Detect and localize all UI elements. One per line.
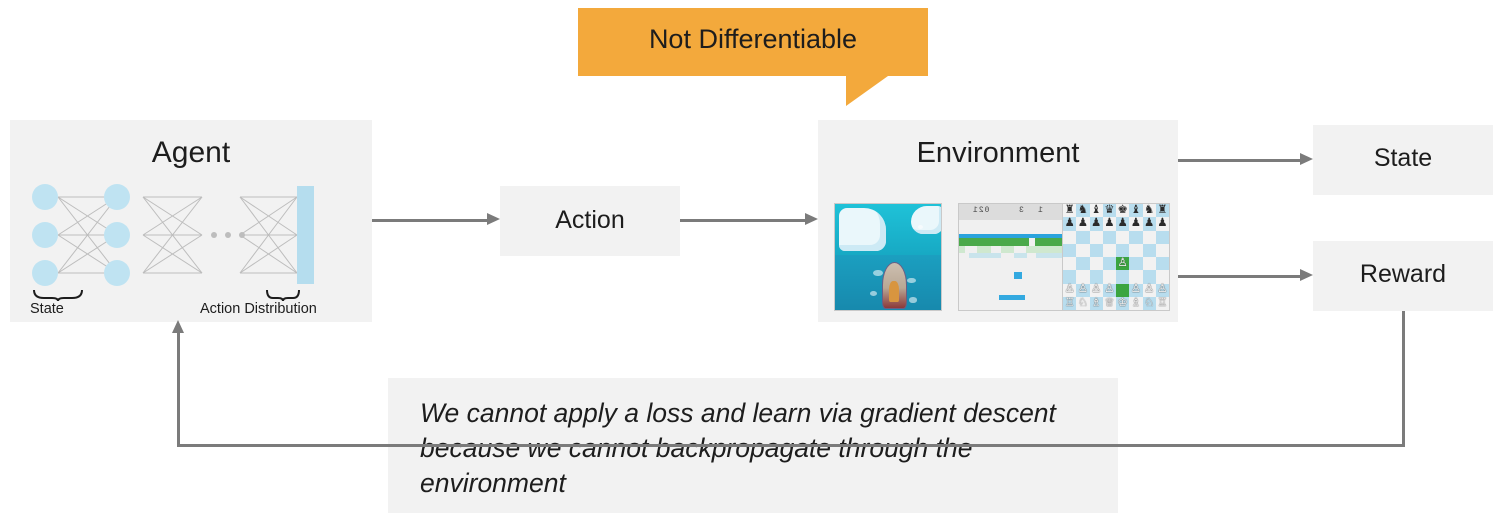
brick-gap: [959, 253, 969, 258]
callout-label: Not Differentiable: [578, 24, 928, 55]
action-distribution-bar: [297, 186, 314, 284]
chess-game-thumbnail: ♜♞♝♛♚♝♞♜♟♟♟♟♟♟♟♟♙♙♙♙♙♙♙♙♖♘♗♕♔♗♘♖: [1062, 203, 1170, 311]
chess-square: [1156, 231, 1169, 244]
chess-square: [1129, 244, 1142, 257]
reward-node: Reward: [1313, 241, 1493, 311]
breakout-ball: [1014, 272, 1021, 279]
chess-square: [1129, 257, 1142, 270]
chess-square: ♟: [1143, 217, 1156, 230]
chess-square: [1090, 270, 1103, 283]
chess-square: ♙: [1103, 284, 1116, 297]
chess-square: ♟: [1129, 217, 1142, 230]
chess-square: [1116, 284, 1129, 297]
chess-square: [1156, 257, 1169, 270]
chess-square: ♖: [1156, 297, 1169, 310]
chess-square: ♛: [1103, 204, 1116, 217]
chess-square: ♝: [1090, 204, 1103, 217]
chess-board: ♜♞♝♛♚♝♞♜♟♟♟♟♟♟♟♟♙♙♙♙♙♙♙♙♖♘♗♕♔♗♘♖: [1063, 204, 1169, 310]
chess-square: ♟: [1103, 217, 1116, 230]
chess-square: [1103, 231, 1116, 244]
chess-square: [1063, 257, 1076, 270]
input-node: [32, 184, 58, 210]
arrowhead-environment-to-state: [1300, 153, 1313, 165]
chess-square: [1103, 244, 1116, 257]
state-node: State: [1313, 125, 1493, 195]
chess-square: ♘: [1143, 297, 1156, 310]
action-node: Action: [500, 186, 680, 256]
chess-square: [1063, 231, 1076, 244]
chess-square: [1156, 270, 1169, 283]
chess-square: ♙: [1129, 284, 1142, 297]
hidden-node: [104, 260, 130, 286]
player-boat: [882, 262, 907, 309]
chess-square: ♝: [1129, 204, 1142, 217]
chess-square: ♟: [1090, 217, 1103, 230]
arrowhead-feedback-to-agent: [172, 320, 184, 333]
chess-square: ♙: [1116, 257, 1129, 270]
chess-square: ♗: [1129, 297, 1142, 310]
chess-square: ♞: [1143, 204, 1156, 217]
chess-square: ♟: [1156, 217, 1169, 230]
breakout-lives-right: 1: [1037, 206, 1043, 215]
chess-square: [1116, 244, 1129, 257]
chess-square: ♜: [1063, 204, 1076, 217]
chess-square: ♙: [1156, 284, 1169, 297]
chess-square: ♟: [1063, 217, 1076, 230]
chess-square: [1103, 270, 1116, 283]
brick-gap: [991, 246, 1002, 253]
input-node: [32, 260, 58, 286]
brick-gap: [1014, 246, 1026, 253]
chess-square: [1129, 231, 1142, 244]
chess-square: [1116, 270, 1129, 283]
explanation-text: We cannot apply a loss and learn via gra…: [420, 396, 1090, 502]
arrowhead-action-to-environment: [805, 213, 818, 225]
chess-square: ♙: [1063, 284, 1076, 297]
connector-feedback-up: [177, 332, 180, 446]
brick-gap: [1029, 238, 1035, 245]
chess-square: [1143, 231, 1156, 244]
breakout-lives-left: 3: [1018, 206, 1024, 215]
chess-square: ♟: [1116, 217, 1129, 230]
chess-square: [1076, 244, 1089, 257]
neural-network-illustration: [32, 180, 362, 290]
chess-square: [1129, 270, 1142, 283]
brick-row-green: [959, 238, 1065, 245]
connector-environment-to-reward: [1178, 275, 1300, 278]
chess-square: [1143, 270, 1156, 283]
brick-gap: [1027, 253, 1037, 258]
chess-square: [1090, 231, 1103, 244]
breakout-game-thumbnail: 021 3 1: [958, 203, 1066, 311]
state-label: State: [1313, 144, 1493, 173]
connector-feedback-down: [1402, 311, 1405, 446]
chess-square: [1090, 257, 1103, 270]
action-label: Action: [500, 206, 680, 235]
iceberg-small: [911, 206, 942, 234]
brick-gap: [1001, 253, 1014, 258]
breakout-paddle: [999, 295, 1024, 300]
state-brace-icon: [32, 288, 84, 302]
chess-square: [1116, 231, 1129, 244]
chess-square: ♘: [1076, 297, 1089, 310]
action-distribution-brace-icon: [265, 288, 303, 302]
chess-square: ♚: [1116, 204, 1129, 217]
callout-tail-icon: [846, 76, 888, 106]
chess-square: [1076, 231, 1089, 244]
iceberg-large: [839, 208, 886, 250]
chess-square: [1143, 257, 1156, 270]
chess-square: [1063, 270, 1076, 283]
connector-feedback-left: [177, 444, 1405, 447]
diagram-canvas: Not Differentiable Agent: [0, 0, 1500, 520]
hidden-node: [104, 222, 130, 248]
chess-square: ♙: [1090, 284, 1103, 297]
environment-node: Environment 021 3 1: [818, 120, 1178, 322]
chess-square: ♙: [1076, 284, 1089, 297]
wake-foam: [873, 270, 883, 276]
breakout-score: 021: [972, 206, 989, 215]
chess-square: [1090, 244, 1103, 257]
hidden-node: [104, 184, 130, 210]
chess-square: [1156, 244, 1169, 257]
chess-square: [1076, 270, 1089, 283]
boat-deck: [889, 281, 899, 302]
ellipsis-dots-icon: [211, 232, 245, 238]
chess-square: [1143, 244, 1156, 257]
chess-square: ♕: [1103, 297, 1116, 310]
chess-square: ♜: [1156, 204, 1169, 217]
not-differentiable-callout: Not Differentiable: [578, 8, 928, 76]
wake-foam: [909, 297, 916, 302]
chess-square: ♞: [1076, 204, 1089, 217]
chess-square: [1063, 244, 1076, 257]
environment-title: Environment: [818, 137, 1178, 170]
connector-action-to-environment: [680, 219, 805, 222]
brick-gap: [965, 246, 977, 253]
agent-title: Agent: [10, 136, 372, 170]
connector-environment-to-state: [1178, 159, 1300, 162]
arrowhead-agent-to-action: [487, 213, 500, 225]
agent-node: Agent: [10, 120, 372, 322]
chess-square: ♔: [1116, 297, 1129, 310]
connector-agent-to-action: [372, 219, 487, 222]
arrowhead-environment-to-reward: [1300, 269, 1313, 281]
boat-iceberg-game-thumbnail: [834, 203, 942, 311]
chess-square: ♙: [1143, 284, 1156, 297]
chess-square: ♗: [1090, 297, 1103, 310]
chess-square: [1103, 257, 1116, 270]
chess-square: [1076, 257, 1089, 270]
chess-square: ♟: [1076, 217, 1089, 230]
action-distribution-caption: Action Distribution: [200, 301, 317, 317]
input-node: [32, 222, 58, 248]
reward-label: Reward: [1313, 260, 1493, 289]
chess-square: ♖: [1063, 297, 1076, 310]
state-caption: State: [30, 301, 64, 317]
